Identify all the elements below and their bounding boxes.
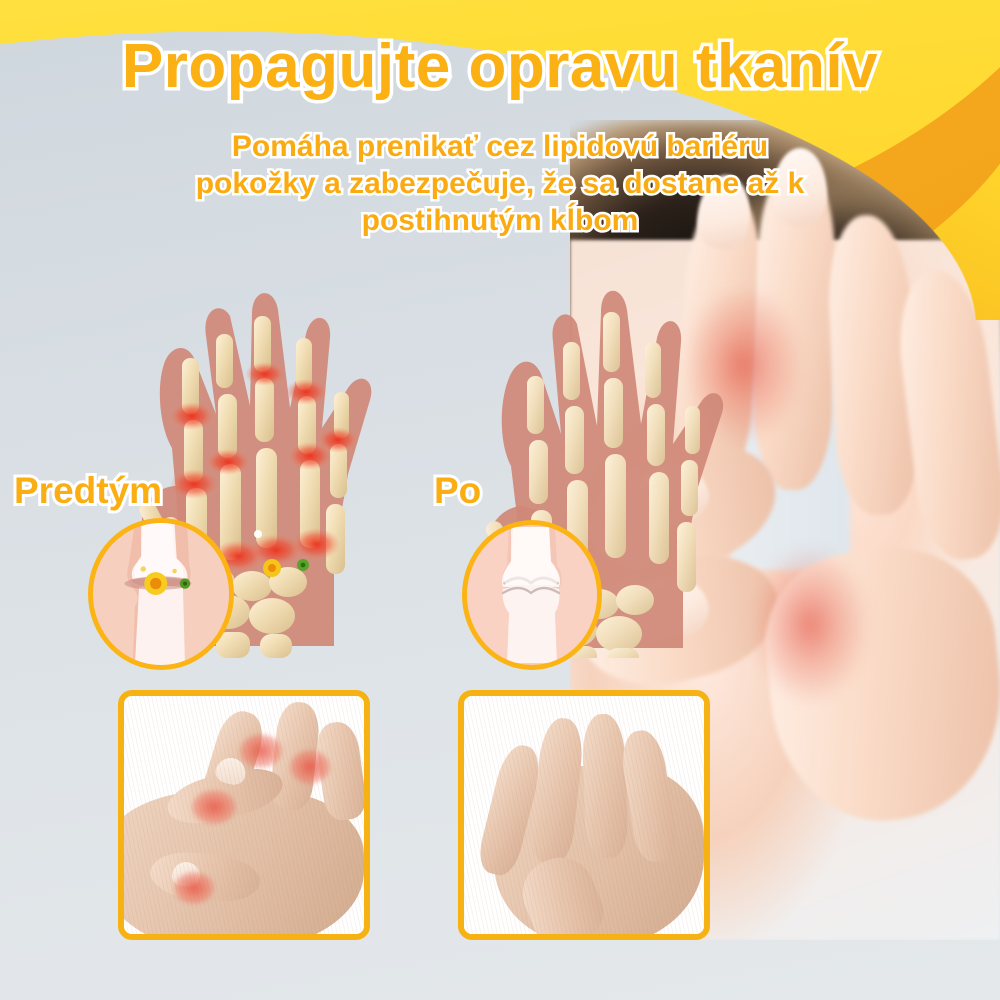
- crystal-cluster-yellow: [144, 572, 167, 595]
- joint-closeup-before-svg: [93, 523, 229, 665]
- page-title: Propagujte opravu tkanív: [0, 36, 1000, 98]
- crystal-marker-yellow: [263, 559, 281, 577]
- photo-inflammation-area-2: [745, 540, 875, 710]
- subtitle-line-1: Pomáha prenikať cez lipidovú bariéru: [0, 131, 1000, 163]
- photo-thumbnail-before-inner: [124, 696, 364, 934]
- photo-thumbnail-after: [458, 690, 710, 940]
- thumb-before-inflamed-joint-2: [290, 750, 330, 784]
- crystal-marker-green: [297, 559, 309, 571]
- promotional-poster: Propagujte opravu tkanív Pomáha prenikať…: [0, 0, 1000, 1000]
- joint-closeup-after-svg: [467, 525, 597, 665]
- joint-closeup-after: [462, 520, 602, 670]
- thumb-before-inflamed-joint-3: [192, 790, 236, 824]
- photo-thumbnail-after-inner: [464, 696, 704, 934]
- label-before: Predtým: [14, 470, 162, 512]
- thumb-before-inflamed-joint-4: [174, 872, 214, 904]
- thumb-after-finger-3: [582, 713, 629, 858]
- crystal-cluster-green: [180, 578, 190, 588]
- subtitle-line-2: pokožky a zabezpečuje, že sa dostane až …: [0, 168, 1000, 200]
- photo-thumbnail-before: [118, 690, 370, 940]
- joint-closeup-before: [88, 518, 234, 670]
- thumb-before-inflamed-joint-1: [240, 734, 282, 768]
- subtitle-line-3: postihnutým kĺbom: [0, 205, 1000, 237]
- label-after: Po: [434, 470, 481, 512]
